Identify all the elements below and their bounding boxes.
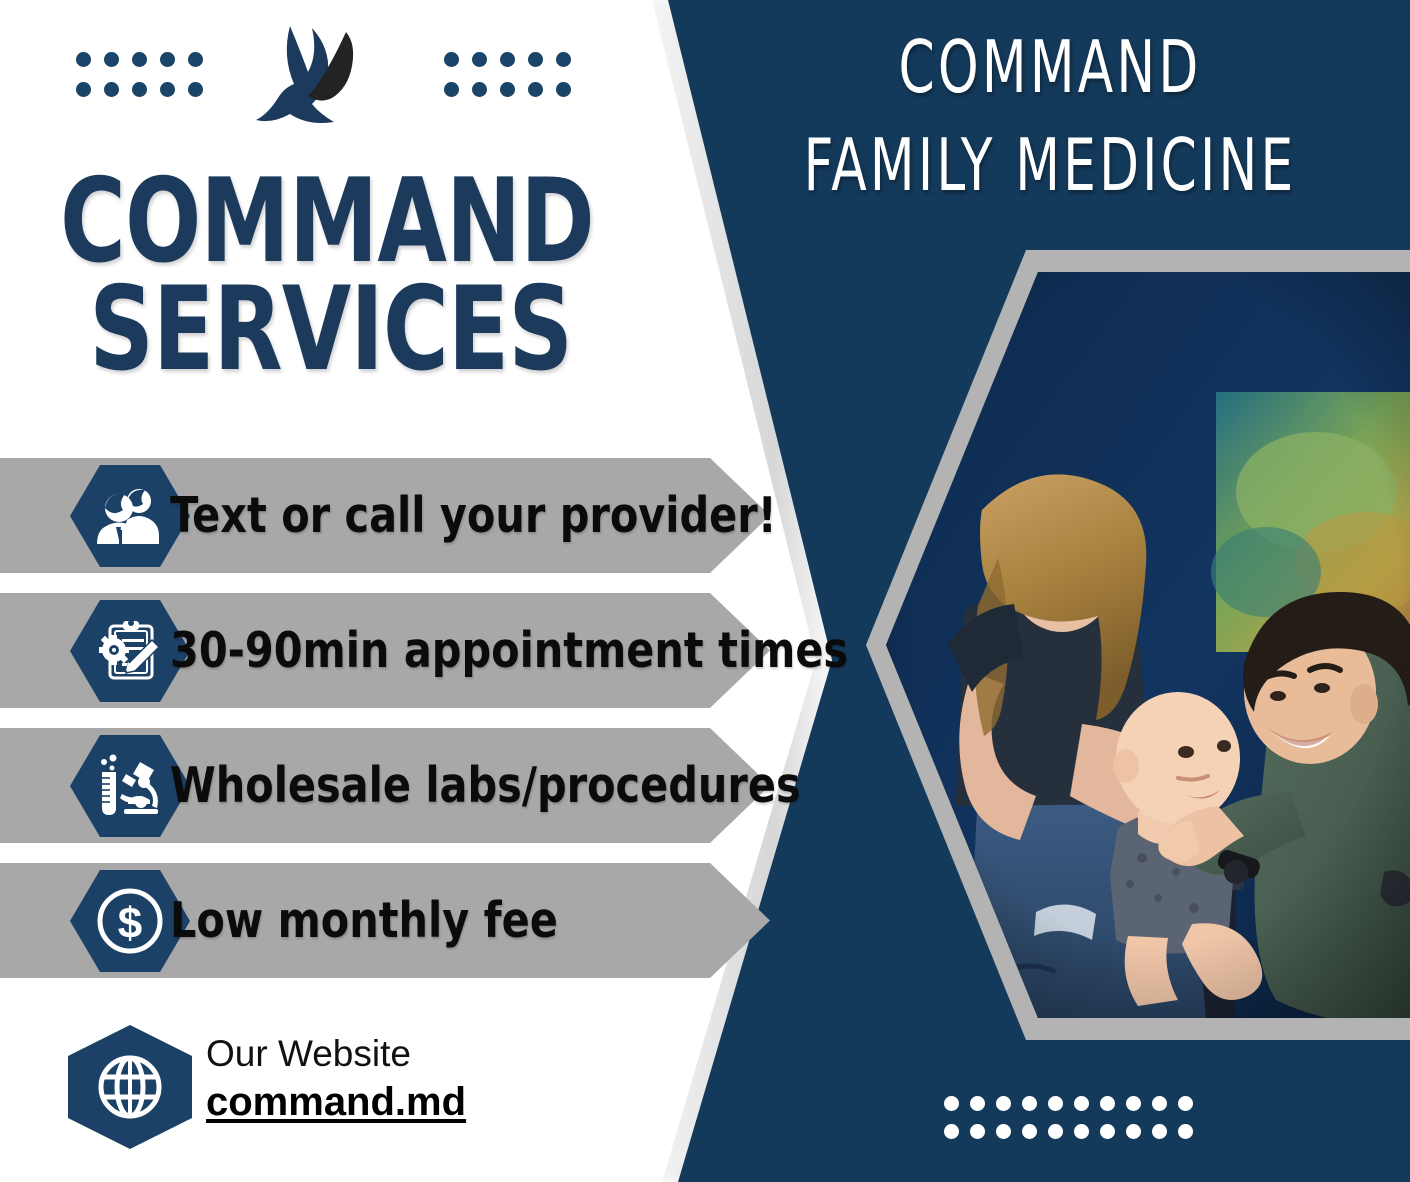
website-label: Our Website (206, 1032, 466, 1076)
feature-banner-3[interactable]: Wholesale labs/procedures (0, 728, 770, 843)
dot-grid-right (444, 52, 584, 112)
globe-icon (68, 1025, 192, 1149)
feature-label-2: 30-90min appointment times (170, 593, 848, 708)
header-line-1: COMMAND (770, 18, 1330, 116)
flying-bird-logo-icon (230, 22, 380, 150)
dot-grid-bottom (944, 1096, 1204, 1152)
page-title-line-1: COMMAND (60, 168, 542, 276)
poster-canvas: COMMAND FAMILY MEDICINE (0, 0, 1410, 1182)
dot-grid-left (76, 52, 216, 112)
feature-banner-4[interactable]: $ Low monthly fee (0, 863, 770, 978)
website-row[interactable]: Our Website command.md (68, 1022, 628, 1152)
feature-label-1: Text or call your provider! (170, 458, 777, 573)
page-title-line-2: SERVICES (60, 276, 542, 384)
poster-header: COMMAND FAMILY MEDICINE (700, 18, 1400, 214)
feature-label-3: Wholesale labs/procedures (170, 728, 801, 843)
feature-label-4: Low monthly fee (170, 863, 558, 978)
website-url[interactable]: command.md (206, 1076, 466, 1128)
header-line-2: FAMILY MEDICINE (770, 116, 1330, 214)
svg-text:$: $ (118, 899, 142, 948)
feature-banner-1[interactable]: Text or call your provider! (0, 458, 770, 573)
feature-banner-2[interactable]: 30-90min appointment times (0, 593, 770, 708)
page-title: COMMAND SERVICES (60, 168, 620, 384)
